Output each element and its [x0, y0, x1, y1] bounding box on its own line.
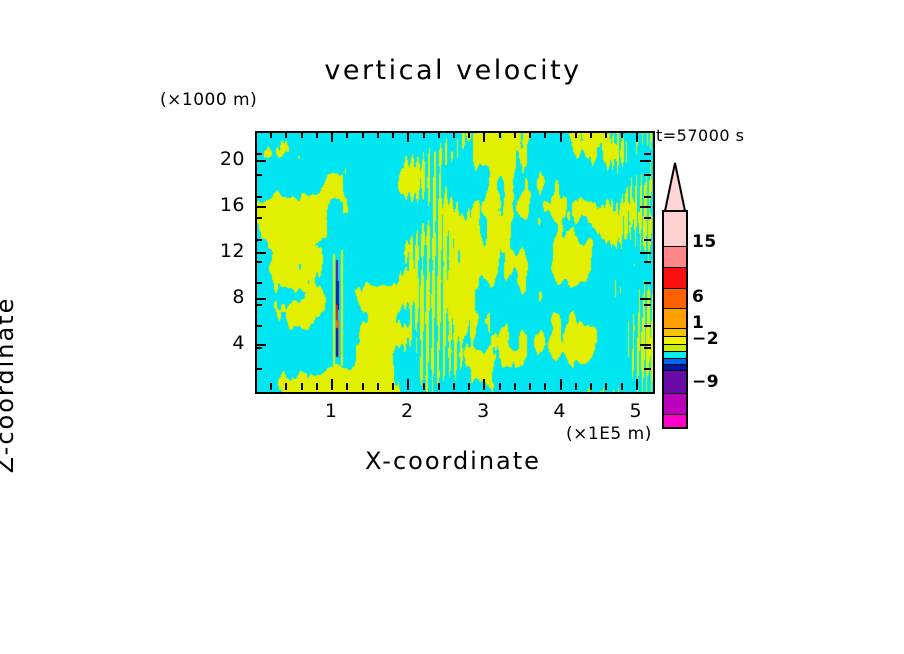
x-minor-tick — [575, 131, 577, 138]
x-minor-tick — [438, 383, 440, 390]
x-minor-tick — [423, 131, 425, 138]
y-major-tick — [255, 206, 266, 208]
colorbar-band — [664, 212, 686, 246]
x-minor-tick — [605, 131, 607, 138]
x-tick-label: 1 — [311, 400, 351, 422]
x-minor-tick — [285, 383, 287, 390]
x-minor-tick — [392, 383, 394, 390]
colorbar-band — [664, 336, 686, 344]
x-minor-tick — [468, 131, 470, 138]
x-minor-tick — [514, 131, 516, 138]
y-major-tick — [640, 252, 651, 254]
x-minor-tick — [423, 383, 425, 390]
x-minor-tick — [529, 383, 531, 390]
x-tick-label: 3 — [463, 400, 503, 422]
y-minor-tick — [644, 325, 651, 327]
x-minor-tick — [377, 383, 379, 390]
y-major-tick — [255, 252, 266, 254]
x-minor-tick — [590, 383, 592, 390]
colorbar-band — [664, 246, 686, 267]
y-minor-tick — [644, 239, 651, 241]
x-minor-tick — [514, 383, 516, 390]
y-minor-tick — [644, 174, 651, 176]
x-major-tick — [407, 379, 409, 390]
y-minor-tick — [255, 174, 262, 176]
x-minor-tick — [270, 383, 272, 390]
x-major-tick — [560, 379, 562, 390]
y-minor-tick — [255, 261, 262, 263]
x-minor-tick — [301, 383, 303, 390]
x-minor-tick — [544, 383, 546, 390]
x-minor-tick — [377, 131, 379, 138]
x-minor-tick — [453, 131, 455, 138]
x-minor-tick — [544, 131, 546, 138]
x-minor-tick — [499, 131, 501, 138]
colorbar-band — [664, 308, 686, 328]
x-minor-tick — [621, 131, 623, 138]
x-axis-title: X-coordinate — [255, 447, 651, 475]
y-axis-title: Z-coordinate — [0, 175, 19, 595]
x-major-tick — [407, 131, 409, 142]
x-minor-tick — [362, 131, 364, 138]
y-minor-tick — [255, 304, 262, 306]
colorbar-arrow-icon — [662, 162, 688, 212]
y-major-tick — [640, 206, 651, 208]
x-minor-tick — [575, 383, 577, 390]
x-minor-tick — [392, 131, 394, 138]
x-tick-label: 5 — [616, 400, 656, 422]
y-minor-tick — [644, 304, 651, 306]
figure-canvas: vertical velocity (×1000 m) t=57000 s Z-… — [0, 0, 904, 654]
x-major-tick — [483, 131, 485, 142]
x-major-tick — [636, 131, 638, 142]
x-minor-tick — [438, 131, 440, 138]
colorbar-band — [664, 267, 686, 288]
x-minor-tick — [346, 383, 348, 390]
y-axis-unit-label: (×1000 m) — [160, 90, 257, 110]
y-minor-tick — [255, 347, 262, 349]
x-major-tick — [636, 379, 638, 390]
x-minor-tick — [285, 131, 287, 138]
y-minor-tick — [255, 153, 262, 155]
y-major-tick — [640, 344, 651, 346]
x-minor-tick — [301, 131, 303, 138]
y-tick-label: 8 — [203, 286, 245, 308]
x-minor-tick — [468, 383, 470, 390]
x-major-tick — [331, 131, 333, 142]
x-minor-tick — [605, 383, 607, 390]
colorbar-band — [664, 351, 686, 358]
y-major-tick — [255, 298, 266, 300]
y-minor-tick — [255, 282, 262, 284]
vertical-velocity-field — [257, 133, 653, 392]
y-minor-tick — [644, 196, 651, 198]
x-minor-tick — [529, 131, 531, 138]
y-minor-tick — [255, 196, 262, 198]
timestamp-annotation: t=57000 s — [656, 126, 745, 145]
y-minor-tick — [255, 368, 262, 370]
y-tick-label: 16 — [203, 194, 245, 216]
y-minor-tick — [644, 217, 651, 219]
colorbar-band — [664, 414, 686, 427]
colorbar-label: −2 — [692, 329, 719, 349]
y-minor-tick — [644, 153, 651, 155]
colorbar-label: 6 — [692, 287, 704, 307]
x-tick-label: 2 — [387, 400, 427, 422]
y-tick-label: 12 — [203, 240, 245, 262]
y-minor-tick — [644, 282, 651, 284]
colorbar-band — [664, 288, 686, 308]
x-major-tick — [483, 379, 485, 390]
colorbar-label: 15 — [692, 232, 717, 252]
y-minor-tick — [644, 368, 651, 370]
y-tick-label: 4 — [203, 332, 245, 354]
x-minor-tick — [316, 131, 318, 138]
y-minor-tick — [255, 239, 262, 241]
page-title: vertical velocity — [255, 55, 651, 86]
y-minor-tick — [255, 325, 262, 327]
y-major-tick — [255, 160, 266, 162]
y-minor-tick — [644, 347, 651, 349]
x-minor-tick — [590, 131, 592, 138]
y-minor-tick — [255, 217, 262, 219]
colorbar-band — [664, 393, 686, 414]
plot-area[interactable] — [255, 131, 655, 394]
y-tick-label: 20 — [203, 148, 245, 170]
x-major-tick — [560, 131, 562, 142]
x-minor-tick — [362, 383, 364, 390]
y-major-tick — [640, 160, 651, 162]
colorbar-label: −9 — [692, 372, 719, 392]
y-major-tick — [255, 344, 266, 346]
colorbar-band — [664, 344, 686, 351]
x-minor-tick — [621, 383, 623, 390]
y-minor-tick — [644, 261, 651, 263]
x-minor-tick — [270, 131, 272, 138]
x-major-tick — [331, 379, 333, 390]
x-minor-tick — [346, 131, 348, 138]
x-tick-label: 4 — [540, 400, 580, 422]
colorbar-band — [664, 328, 686, 336]
x-minor-tick — [453, 383, 455, 390]
x-minor-tick — [499, 383, 501, 390]
x-minor-tick — [316, 383, 318, 390]
colorbar-bands — [662, 210, 688, 429]
colorbar-band — [664, 370, 686, 393]
y-major-tick — [640, 298, 651, 300]
x-axis-unit-label: (×1E5 m) — [566, 424, 652, 444]
